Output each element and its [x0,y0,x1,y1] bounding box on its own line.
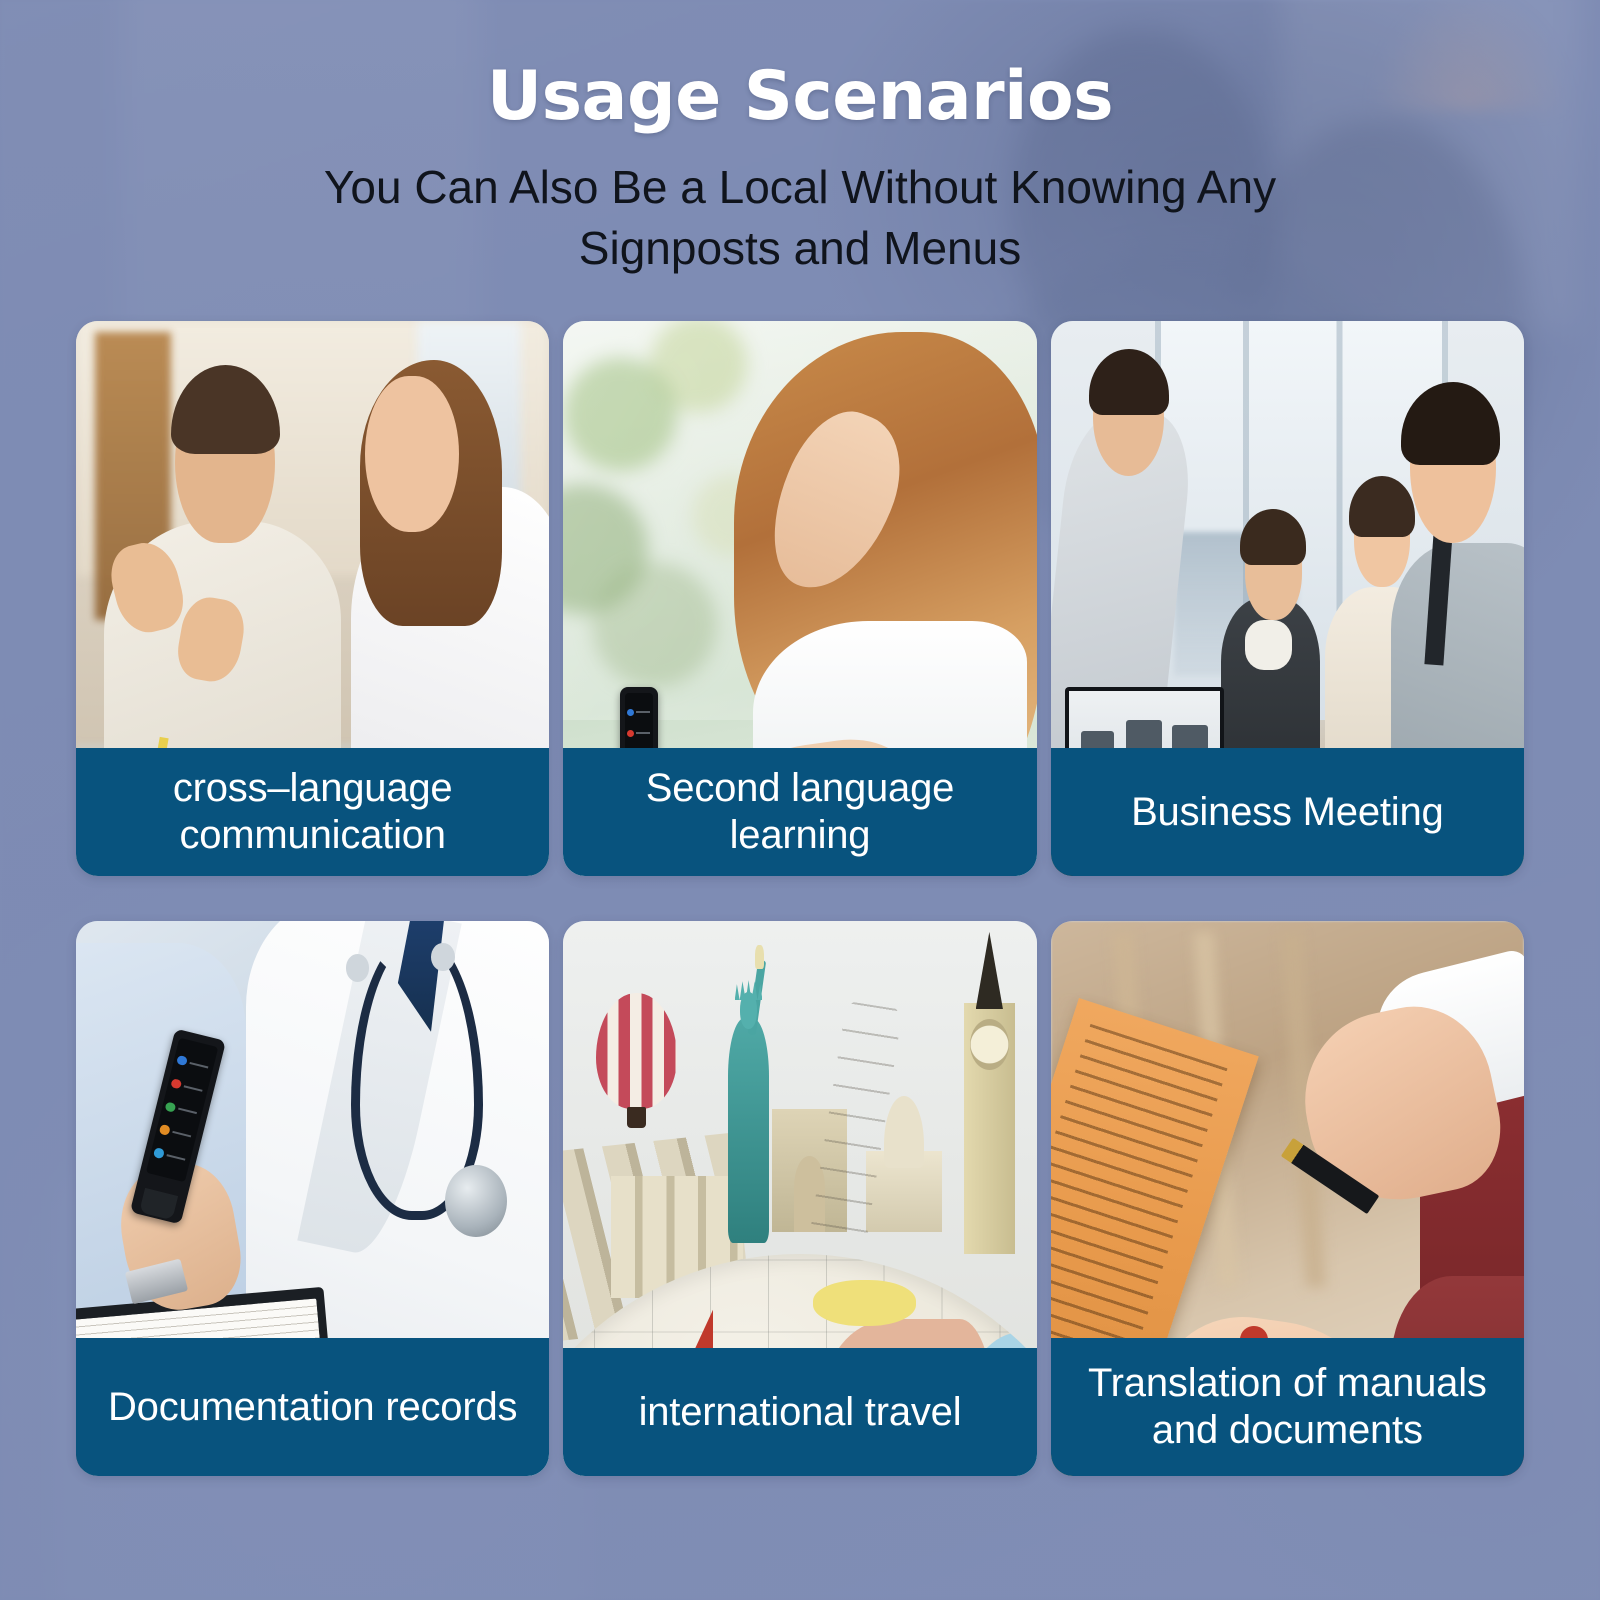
scenario-card-international-travel[interactable]: international travel [563,921,1036,1476]
big-ben-icon [951,932,1027,1254]
scenario-card-business-meeting[interactable]: Business Meeting [1051,321,1524,876]
caption-international-travel: international travel [563,1348,1036,1476]
scenario-card-grid: cross–language communication [76,321,1524,1476]
scenario-card-cross-language-communication[interactable]: cross–language communication [76,321,549,876]
caption-text: Documentation records [108,1384,517,1430]
page-subtitle: You Can Also Be a Local Without Knowing … [240,157,1360,278]
statue-of-liberty-icon [715,954,781,1243]
scenario-card-second-language-learning[interactable]: Second language learning [563,321,1036,876]
caption-text: international travel [639,1389,962,1435]
caption-cross-language-communication: cross–language communication [76,748,549,876]
scenario-card-translation-of-manuals-and-documents[interactable]: Translation of manuals and documents [1051,921,1524,1476]
scenario-card-documentation-records[interactable]: Documentation records [76,921,549,1476]
caption-text: cross–language communication [88,765,537,858]
hot-air-balloon-icon [596,993,676,1110]
caption-second-language-learning: Second language learning [563,748,1036,876]
caption-text: Translation of manuals and documents [1063,1360,1512,1453]
caption-translation-of-manuals-and-documents: Translation of manuals and documents [1051,1338,1524,1476]
caption-documentation-records: Documentation records [76,1338,549,1476]
page-header: Usage Scenarios You Can Also Be a Local … [0,0,1600,279]
stethoscope-chestpiece [445,1165,507,1237]
caption-business-meeting: Business Meeting [1051,748,1524,876]
page-title: Usage Scenarios [0,62,1600,131]
caption-text: Business Meeting [1131,789,1444,835]
usage-scenarios-page: Usage Scenarios You Can Also Be a Local … [0,0,1600,1600]
caption-text: Second language learning [575,765,1024,858]
